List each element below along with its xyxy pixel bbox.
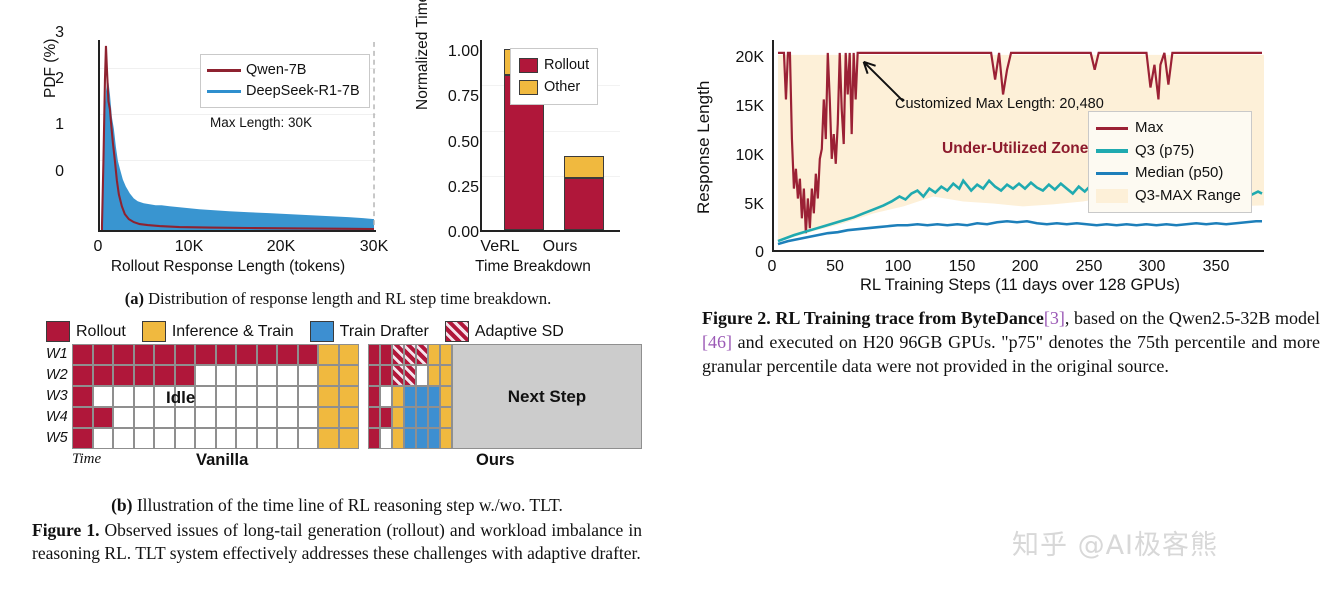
figure-1-caption-bold: Figure 1. xyxy=(32,520,99,540)
timeline-cell-r3-c13 xyxy=(318,386,339,407)
legend-line-swatch-qwen xyxy=(207,69,241,72)
timeline-cell-r4-c8 xyxy=(216,407,237,428)
timeline-cell-r4-c2 xyxy=(93,407,114,428)
legend-line-swatch-q3 xyxy=(1096,149,1128,153)
pdf-x-tick-1: 10K xyxy=(166,238,212,256)
rl-y-tick-5k: 5K xyxy=(726,196,764,214)
rl-y-tick-20k: 20K xyxy=(726,49,764,67)
figure-2-ref-3: [3] xyxy=(1044,308,1065,328)
timeline-cell-r1-c1 xyxy=(72,344,93,365)
figure-2-ref-46: [46] xyxy=(702,332,732,352)
timeline-cell-r1-c12 xyxy=(298,344,319,365)
timeline-time-axis-label: Time xyxy=(72,451,101,468)
pdf-y-tick-1: 1 xyxy=(38,116,64,134)
rl-legend-item-max: Max xyxy=(1096,117,1241,140)
timeline-cell-r2-c10 xyxy=(257,365,278,386)
bar-x-tick-verl: VeRL xyxy=(469,238,531,256)
timeline-cell-r4-c9 xyxy=(236,407,257,428)
timeline-cell-r5-c8 xyxy=(216,428,237,449)
legend-box-swatch-other xyxy=(519,80,538,95)
timeline-cell-r2-c8 xyxy=(216,365,237,386)
panel-b-caption: (b) Illustration of the time line of RL … xyxy=(32,494,642,517)
timeline-cell-r3-c5 xyxy=(416,386,428,407)
timeline-cell-r4-c4 xyxy=(134,407,155,428)
bar-x-tick-ours: Ours xyxy=(529,238,591,256)
rl-x-tick-50: 50 xyxy=(813,258,857,276)
timeline-cell-r4-c12 xyxy=(298,407,319,428)
bar-legend-item-other: Other xyxy=(519,76,589,98)
timeline-cell-r1-c10 xyxy=(257,344,278,365)
timeline-cell-r5-c6 xyxy=(175,428,196,449)
figure-1-captions: (b) Illustration of the time line of RL … xyxy=(32,494,642,566)
timeline-legend-label-rollout: Rollout xyxy=(76,323,126,341)
timeline-cell-r2-c2 xyxy=(93,365,114,386)
timeline-cell-r2-c2 xyxy=(380,365,392,386)
legend-line-swatch-deepseek xyxy=(207,90,241,93)
legend-box-swatch-rollout xyxy=(519,58,538,73)
figure-1-block: PDF (%) 0 1 2 3 0 10K 20K 30K Rollout Re… xyxy=(18,14,656,584)
pdf-x-tick-2: 20K xyxy=(258,238,304,256)
figure-2-caption-paragraph: Figure 2. RL Training trace from ByteDan… xyxy=(702,306,1320,378)
timeline-cell-r1-c4 xyxy=(134,344,155,365)
timeline-cell-r4-c4 xyxy=(404,407,416,428)
timeline-legend-label-adaptive-sd: Adaptive SD xyxy=(475,323,564,341)
rl-x-tick-150: 150 xyxy=(940,258,984,276)
timeline-cell-r2-c1 xyxy=(72,365,93,386)
timeline-cell-r3-c2 xyxy=(93,386,114,407)
timeline-cell-r4-c5 xyxy=(154,407,175,428)
rl-x-tick-250: 250 xyxy=(1067,258,1111,276)
pdf-legend-label-qwen: Qwen-7B xyxy=(246,60,306,81)
timeline-cell-r5-c3 xyxy=(113,428,134,449)
pdf-legend-label-deepseek: DeepSeek-R1-7B xyxy=(246,81,360,102)
rl-training-trace-chart: Response Length 0 5K 10K 15K 20K Customi… xyxy=(690,18,1320,290)
bar-y-tick-025: 0.25 xyxy=(435,179,479,197)
timeline-cell-r4-c7 xyxy=(440,407,452,428)
timeline-cell-r1-c5 xyxy=(154,344,175,365)
timeline-cell-r5-c2 xyxy=(93,428,114,449)
panel-a-caption: (a) Distribution of response length and … xyxy=(28,288,648,309)
pdf-distribution-chart: PDF (%) 0 1 2 3 0 10K 20K 30K Rollout Re… xyxy=(48,26,398,284)
rl-legend-label-q3: Q3 (p75) xyxy=(1135,140,1194,163)
rl-x-tick-350: 350 xyxy=(1194,258,1238,276)
timeline-cell-r4-c13 xyxy=(318,407,339,428)
timeline-row-labels: W1 W2 W3 W4 W5 xyxy=(46,344,72,449)
timeline-cell-r3-c1 xyxy=(72,386,93,407)
timeline-cell-r1-c3 xyxy=(113,344,134,365)
timeline-cell-r5-c7 xyxy=(195,428,216,449)
timeline-cell-r1-c2 xyxy=(380,344,392,365)
panel-a-caption-bold: (a) xyxy=(125,289,144,308)
bar-ours xyxy=(564,156,604,230)
idle-label: Idle xyxy=(166,388,195,408)
timeline-cell-r1-c9 xyxy=(236,344,257,365)
timeline-grid-ours xyxy=(368,344,452,449)
figure-2-block: Response Length 0 5K 10K 15K 20K Customi… xyxy=(690,18,1320,578)
timeline-cell-r3-c8 xyxy=(216,386,237,407)
pdf-legend-item-qwen: Qwen-7B xyxy=(207,60,360,81)
timeline-cell-r1-c13 xyxy=(318,344,339,365)
rl-legend: Max Q3 (p75) Median (p50) Q3-MAX Range xyxy=(1088,111,1252,213)
timeline-cell-r2-c12 xyxy=(298,365,319,386)
timeline-cell-r2-c6 xyxy=(175,365,196,386)
rl-x-tick-0: 0 xyxy=(750,258,794,276)
timeline-cell-r2-c5 xyxy=(416,365,428,386)
timeline-cell-r5-c12 xyxy=(298,428,319,449)
legend-swatch-rollout xyxy=(46,321,70,342)
pdf-y-tick-2: 2 xyxy=(38,70,64,88)
timeline-cell-r4-c10 xyxy=(257,407,278,428)
rl-y-tick-15k: 15K xyxy=(726,98,764,116)
timeline-cell-r2-c7 xyxy=(195,365,216,386)
timeline-row-label-w1: W1 xyxy=(46,344,72,365)
timeline-cell-r4-c6 xyxy=(428,407,440,428)
timeline-cell-r1-c7 xyxy=(195,344,216,365)
figure-2-caption-mid: , based on the Qwen2.5-32B model xyxy=(1065,308,1320,328)
timeline-cell-r5-c7 xyxy=(440,428,452,449)
timeline-cell-r4-c5 xyxy=(416,407,428,428)
bar-ours-rollout xyxy=(564,178,604,230)
figure-2-caption-tail: and executed on H20 96GB GPUs. "p75" den… xyxy=(702,332,1320,376)
bar-ours-other xyxy=(564,156,604,178)
timeline-cell-r1-c2 xyxy=(93,344,114,365)
timeline-cell-r3-c3 xyxy=(392,386,404,407)
pdf-x-axis-label: Rollout Response Length (tokens) xyxy=(58,258,398,276)
timeline-cell-r4-c3 xyxy=(113,407,134,428)
timeline-cell-r2-c1 xyxy=(368,365,380,386)
timeline-cell-r3-c2 xyxy=(380,386,392,407)
timeline-cell-r3-c3 xyxy=(113,386,134,407)
panel-b-caption-text: Illustration of the time line of RL reas… xyxy=(132,495,562,515)
timeline-cell-r1-c6 xyxy=(428,344,440,365)
timeline-grid-vanilla xyxy=(72,344,359,449)
timeline-cell-r1-c1 xyxy=(368,344,380,365)
timeline-row-label-w2: W2 xyxy=(46,365,72,386)
timeline-cell-r1-c11 xyxy=(277,344,298,365)
timeline-cell-r5-c1 xyxy=(368,428,380,449)
timeline-cell-r5-c1 xyxy=(72,428,93,449)
timeline-cell-r4-c1 xyxy=(72,407,93,428)
bar-y-tick-100: 1.00 xyxy=(435,43,479,61)
timeline-diagram: W1 W2 W3 W4 W5 Next Step Idle Time Vanil… xyxy=(46,344,654,454)
timeline-row-label-w3: W3 xyxy=(46,386,72,407)
timeline-cell-r4-c3 xyxy=(392,407,404,428)
timeline-cell-r5-c9 xyxy=(236,428,257,449)
timeline-cell-r5-c2 xyxy=(380,428,392,449)
timeline-cell-r3-c1 xyxy=(368,386,380,407)
timeline-cell-r3-c6 xyxy=(428,386,440,407)
timeline-cell-r5-c3 xyxy=(392,428,404,449)
timeline-cell-r3-c7 xyxy=(440,386,452,407)
timeline-legend-item-rollout: Rollout xyxy=(46,321,126,342)
timeline-cell-r5-c11 xyxy=(277,428,298,449)
figure-1-caption: Figure 1. Observed issues of long-tail g… xyxy=(32,519,642,565)
pdf-y-axis-label: PDF (%) xyxy=(42,39,60,98)
pdf-x-tick-0: 0 xyxy=(75,238,121,256)
timeline-cell-r3-c10 xyxy=(257,386,278,407)
timeline-cell-r1-c14 xyxy=(339,344,360,365)
legend-swatch-inference-train xyxy=(142,321,166,342)
panel-a-caption-text: Distribution of response length and RL s… xyxy=(144,289,551,308)
timeline-cell-r1-c5 xyxy=(416,344,428,365)
figure-2-caption: Figure 2. RL Training trace from ByteDan… xyxy=(702,306,1320,378)
timeline-cell-r2-c9 xyxy=(236,365,257,386)
bar-x-axis-label: Time Breakdown xyxy=(438,258,628,276)
rl-max-length-annotation: Customized Max Length: 20,480 xyxy=(895,96,1104,112)
timeline-cell-r2-c13 xyxy=(318,365,339,386)
panel-b-caption-bold: (b) xyxy=(111,495,132,515)
timeline-row-label-w5: W5 xyxy=(46,428,72,449)
timeline-row-label-w4: W4 xyxy=(46,407,72,428)
next-step-box: Next Step xyxy=(452,344,642,449)
timeline-cell-r3-c7 xyxy=(195,386,216,407)
bar-y-tick-075: 0.75 xyxy=(435,88,479,106)
rl-legend-item-median: Median (p50) xyxy=(1096,162,1241,185)
rl-legend-item-range: Q3-MAX Range xyxy=(1096,185,1241,208)
pdf-legend-item-deepseek: DeepSeek-R1-7B xyxy=(207,81,360,102)
next-step-label: Next Step xyxy=(508,387,586,407)
timeline-cell-r5-c6 xyxy=(428,428,440,449)
timeline-cell-r2-c3 xyxy=(392,365,404,386)
pdf-max-length-annotation: Max Length: 30K xyxy=(210,115,312,130)
timeline-cell-r2-c11 xyxy=(277,365,298,386)
timeline-cell-r1-c8 xyxy=(216,344,237,365)
bar-legend-label-rollout: Rollout xyxy=(544,54,589,76)
under-utilized-zone-label: Under-Utilized Zone xyxy=(942,140,1088,158)
rl-x-tick-100: 100 xyxy=(876,258,920,276)
bar-y-tick-050: 0.50 xyxy=(435,134,479,152)
figure-2-caption-bold: Figure 2. RL Training trace from ByteDan… xyxy=(702,308,1044,328)
timeline-cell-r4-c11 xyxy=(277,407,298,428)
timeline-cell-r3-c4 xyxy=(134,386,155,407)
bar-legend-item-rollout: Rollout xyxy=(519,54,589,76)
rl-y-tick-10k: 10K xyxy=(726,147,764,165)
timeline-legend-label-train-drafter: Train Drafter xyxy=(340,323,429,341)
watermark: 知乎 @AI极客熊 xyxy=(1012,523,1218,562)
rl-legend-label-median: Median (p50) xyxy=(1135,162,1223,185)
bar-legend-label-other: Other xyxy=(544,76,580,98)
legend-line-swatch-median xyxy=(1096,172,1128,176)
timeline-cell-r5-c4 xyxy=(134,428,155,449)
timeline-cell-r2-c4 xyxy=(134,365,155,386)
rl-legend-label-max: Max xyxy=(1135,117,1163,140)
pdf-y-tick-0: 0 xyxy=(38,163,64,181)
figure-1-caption-text: Observed issues of long-tail generation … xyxy=(32,520,642,563)
timeline-cell-r2-c7 xyxy=(440,365,452,386)
timeline-legend: Rollout Inference & Train Train Drafter … xyxy=(46,321,654,342)
rl-x-axis-label: RL Training Steps (11 days over 128 GPUs… xyxy=(750,276,1290,295)
pdf-legend: Qwen-7B DeepSeek-R1-7B xyxy=(200,54,370,108)
timeline-cell-r2-c5 xyxy=(154,365,175,386)
pdf-y-tick-3: 3 xyxy=(38,24,64,42)
timeline-cell-r5-c14 xyxy=(339,428,360,449)
timeline-cell-r2-c6 xyxy=(428,365,440,386)
timeline-cell-r5-c5 xyxy=(416,428,428,449)
timeline-cell-r1-c7 xyxy=(440,344,452,365)
timeline-vanilla-label: Vanilla xyxy=(196,451,248,470)
bar-y-axis-label: Normalized Time xyxy=(414,0,432,110)
timeline-cell-r1-c6 xyxy=(175,344,196,365)
timeline-cell-r5-c4 xyxy=(404,428,416,449)
timeline-cell-r4-c6 xyxy=(175,407,196,428)
timeline-cell-r5-c13 xyxy=(318,428,339,449)
timeline-cell-r3-c12 xyxy=(298,386,319,407)
timeline-cell-r3-c14 xyxy=(339,386,360,407)
timeline-cell-r3-c4 xyxy=(404,386,416,407)
legend-swatch-train-drafter xyxy=(310,321,334,342)
timeline-cell-r4-c2 xyxy=(380,407,392,428)
legend-patch-swatch-range xyxy=(1096,189,1128,203)
timeline-cell-r4-c1 xyxy=(368,407,380,428)
timeline-legend-label-inference-train: Inference & Train xyxy=(172,323,294,341)
rl-legend-item-q3: Q3 (p75) xyxy=(1096,140,1241,163)
timeline-cell-r3-c9 xyxy=(236,386,257,407)
bar-legend: Rollout Other xyxy=(510,48,598,105)
timeline-cell-r4-c7 xyxy=(195,407,216,428)
rl-legend-label-range: Q3-MAX Range xyxy=(1135,185,1241,208)
timeline-cell-r2-c4 xyxy=(404,365,416,386)
rl-x-tick-300: 300 xyxy=(1130,258,1174,276)
timeline-cell-r1-c4 xyxy=(404,344,416,365)
timeline-legend-item-adaptive-sd: Adaptive SD xyxy=(445,321,564,342)
timeline-legend-item-inference-train: Inference & Train xyxy=(142,321,294,342)
rl-x-tick-200: 200 xyxy=(1003,258,1047,276)
timeline-legend-item-train-drafter: Train Drafter xyxy=(310,321,429,342)
time-breakdown-chart: Normalized Time 0.00 0.25 0.50 0.75 1.00… xyxy=(418,26,633,284)
timeline-cell-r5-c5 xyxy=(154,428,175,449)
rl-y-axis-label: Response Length xyxy=(694,81,714,214)
timeline-cell-r2-c14 xyxy=(339,365,360,386)
timeline-cell-r3-c11 xyxy=(277,386,298,407)
legend-swatch-adaptive-sd xyxy=(445,321,469,342)
pdf-x-tick-3: 30K xyxy=(351,238,397,256)
timeline-cell-r1-c3 xyxy=(392,344,404,365)
timeline-cell-r2-c3 xyxy=(113,365,134,386)
timeline-ours-label: Ours xyxy=(476,451,515,470)
legend-line-swatch-max xyxy=(1096,127,1128,131)
timeline-cell-r4-c14 xyxy=(339,407,360,428)
timeline-cell-r5-c10 xyxy=(257,428,278,449)
